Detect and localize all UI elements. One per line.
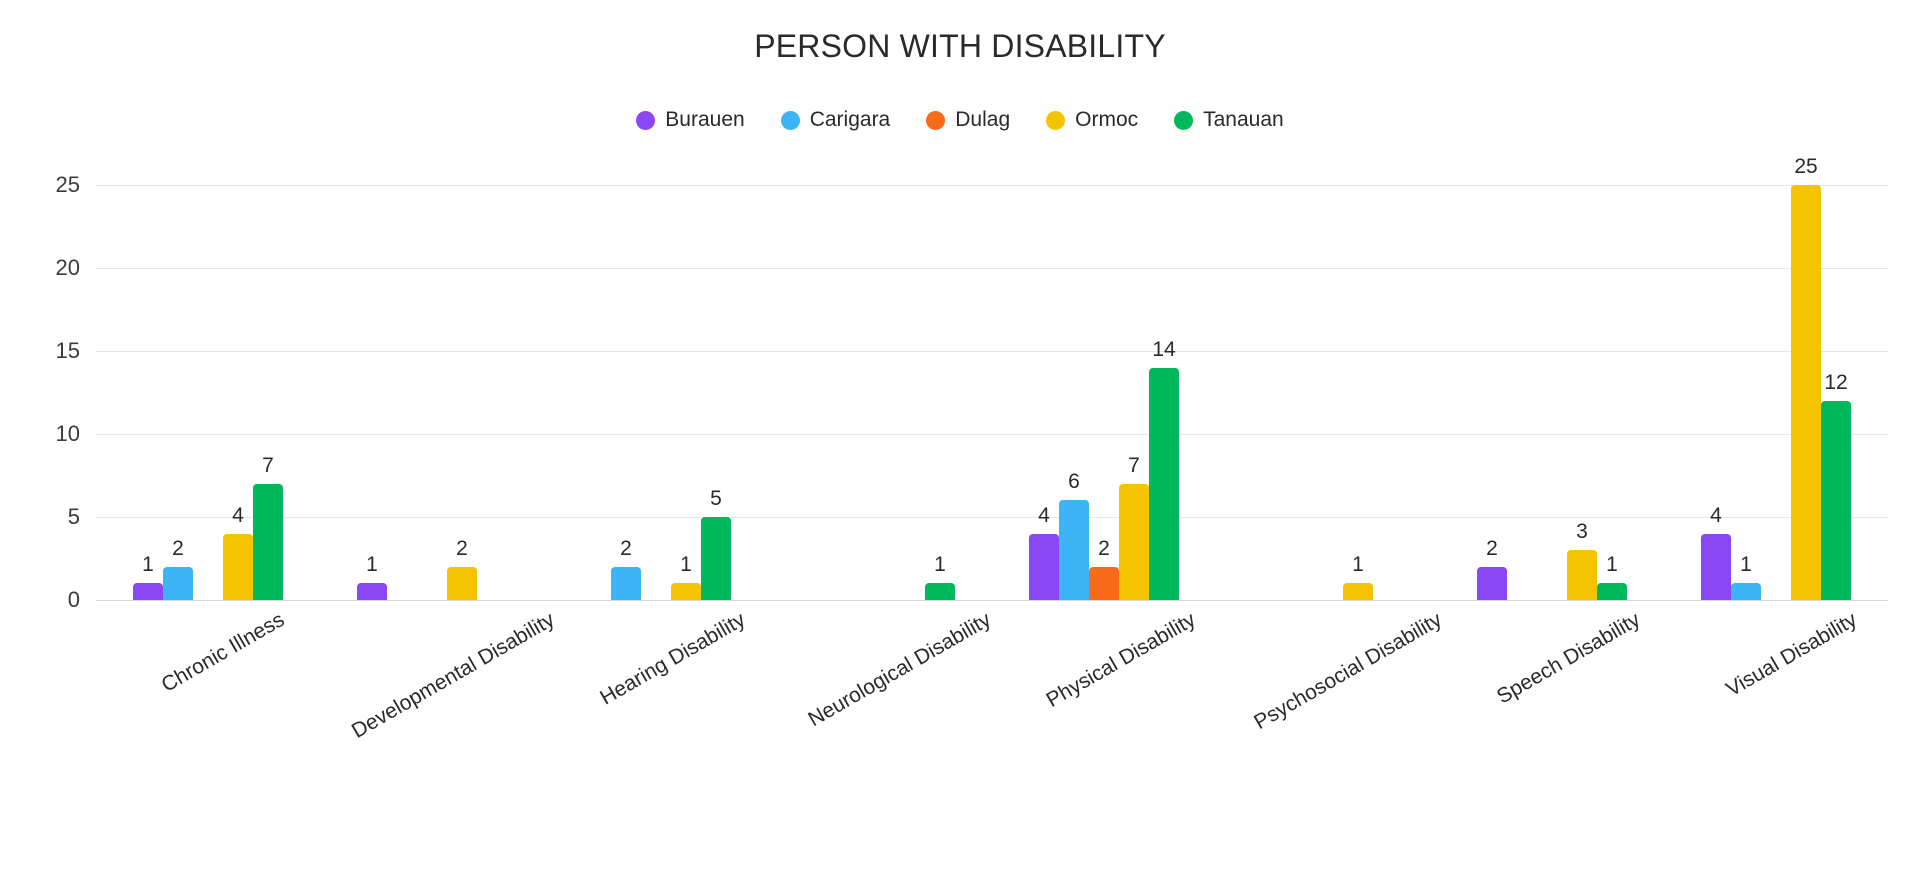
- bar-burauen[interactable]: [1029, 534, 1059, 600]
- bar-value-label: 1: [934, 553, 946, 577]
- bar-slot: 14: [1149, 160, 1179, 600]
- x-axis-tick-label: Chronic Illness: [158, 608, 289, 698]
- bar-value-label: 1: [1352, 553, 1364, 577]
- bar-slot: 2: [163, 160, 193, 600]
- bar-slot: 12: [1821, 160, 1851, 600]
- bar-slot: [865, 160, 895, 600]
- x-axis-tick-label: Psychosocial Disability: [1250, 608, 1446, 735]
- bar-group: 412512: [1664, 160, 1888, 600]
- bar-slot: 2: [447, 160, 477, 600]
- legend-item-ormoc[interactable]: Ormoc: [1046, 108, 1138, 132]
- bar-slot: [477, 160, 507, 600]
- bar-slot: [641, 160, 671, 600]
- bar-slot: 25: [1791, 160, 1821, 600]
- bar-slot: [417, 160, 447, 600]
- bar-tanauan[interactable]: [253, 484, 283, 600]
- bar-group: 1247: [96, 160, 320, 600]
- bar-value-label: 7: [1128, 454, 1140, 478]
- x-axis-tick-label: Hearing Disability: [596, 608, 750, 710]
- bar-ormoc[interactable]: [1791, 185, 1821, 600]
- bar-slot: 1: [1597, 160, 1627, 600]
- x-axis-label-cell: Speech Disability: [1440, 600, 1664, 800]
- legend-swatch-icon: [1174, 111, 1193, 130]
- bar-slot: 4: [1701, 160, 1731, 600]
- y-axis-tick-label: 5: [68, 504, 80, 530]
- x-axis-tick-label: Neurological Disability: [804, 608, 995, 732]
- bar-slot: 1: [357, 160, 387, 600]
- bar-tanauan[interactable]: [701, 517, 731, 600]
- bar-value-label: 7: [262, 454, 274, 478]
- legend-item-label: Burauen: [665, 108, 744, 132]
- bar-group: 231: [1440, 160, 1664, 600]
- bar-value-label: 25: [1794, 155, 1817, 179]
- x-axis-label-cell: Developmental Disability: [320, 600, 544, 800]
- y-axis-tick-label: 20: [56, 255, 80, 281]
- bar-group: 12: [320, 160, 544, 600]
- bar-slot: 2: [1477, 160, 1507, 600]
- x-axis-label-cell: Neurological Disability: [768, 600, 992, 800]
- bar-slot: 7: [1119, 160, 1149, 600]
- bar-carigara[interactable]: [611, 567, 641, 600]
- bar-value-label: 12: [1824, 371, 1847, 395]
- x-axis-labels: Chronic IllnessDevelopmental DisabilityH…: [96, 600, 1888, 800]
- chart-legend: BurauenCarigaraDulagOrmocTanauan: [0, 108, 1920, 132]
- x-axis-tick-label: Physical Disability: [1042, 608, 1200, 713]
- y-axis-tick-label: 10: [56, 421, 80, 447]
- bar-value-label: 4: [232, 504, 244, 528]
- bar-dulag[interactable]: [1089, 567, 1119, 600]
- legend-item-tanauan[interactable]: Tanauan: [1174, 108, 1284, 132]
- bar-slot: [895, 160, 925, 600]
- x-axis-label-cell: Psychosocial Disability: [1216, 600, 1440, 800]
- legend-item-label: Dulag: [955, 108, 1010, 132]
- bar-ormoc[interactable]: [223, 534, 253, 600]
- bar-groups: 12471221514627141231412512: [96, 160, 1888, 600]
- bar-slot: 1: [1343, 160, 1373, 600]
- bar-slot: 2: [1089, 160, 1119, 600]
- bar-value-label: 2: [1098, 537, 1110, 561]
- bar-value-label: 1: [142, 553, 154, 577]
- bar-group: 1: [1216, 160, 1440, 600]
- bar-slot: [835, 160, 865, 600]
- legend-swatch-icon: [1046, 111, 1065, 130]
- bar-slot: [1283, 160, 1313, 600]
- bar-value-label: 1: [366, 553, 378, 577]
- bar-slot: 3: [1567, 160, 1597, 600]
- x-axis-label-cell: Physical Disability: [992, 600, 1216, 800]
- bar-group: 215: [544, 160, 768, 600]
- bar-ormoc[interactable]: [447, 567, 477, 600]
- y-axis-tick-label: 15: [56, 338, 80, 364]
- bar-slot: 7: [253, 160, 283, 600]
- bar-slot: [1373, 160, 1403, 600]
- bar-carigara[interactable]: [163, 567, 193, 600]
- bar-slot: 1: [133, 160, 163, 600]
- bar-slot: [387, 160, 417, 600]
- x-axis-tick-label: Visual Disability: [1722, 608, 1861, 702]
- legend-swatch-icon: [926, 111, 945, 130]
- bar-ormoc[interactable]: [1343, 583, 1373, 600]
- bar-burauen[interactable]: [1701, 534, 1731, 600]
- bar-tanauan[interactable]: [1597, 583, 1627, 600]
- bar-slot: [1537, 160, 1567, 600]
- bar-value-label: 14: [1152, 338, 1175, 362]
- legend-item-label: Carigara: [810, 108, 891, 132]
- x-axis-label-cell: Chronic Illness: [96, 600, 320, 800]
- bar-value-label: 2: [620, 537, 632, 561]
- legend-item-burauen[interactable]: Burauen: [636, 108, 744, 132]
- bar-burauen[interactable]: [1477, 567, 1507, 600]
- bar-carigara[interactable]: [1059, 500, 1089, 600]
- bar-ormoc[interactable]: [1567, 550, 1597, 600]
- bar-ormoc[interactable]: [671, 583, 701, 600]
- bar-tanauan[interactable]: [1149, 368, 1179, 600]
- bar-burauen[interactable]: [133, 583, 163, 600]
- bar-group: 462714: [992, 160, 1216, 600]
- x-axis-tick-label: Developmental Disability: [348, 608, 559, 744]
- bar-value-label: 1: [1740, 553, 1752, 577]
- bar-slot: [581, 160, 611, 600]
- x-axis-tick-label: Speech Disability: [1493, 608, 1645, 709]
- y-axis-tick-label: 0: [68, 587, 80, 613]
- bar-slot: [1253, 160, 1283, 600]
- bar-ormoc[interactable]: [1119, 484, 1149, 600]
- page-title: PERSON WITH DISABILITY: [0, 28, 1920, 65]
- bar-tanauan[interactable]: [925, 583, 955, 600]
- bar-slot: 1: [1731, 160, 1761, 600]
- bar-slot: 5: [701, 160, 731, 600]
- bar-slot: [805, 160, 835, 600]
- bar-slot: [1313, 160, 1343, 600]
- bar-tanauan[interactable]: [1821, 401, 1851, 600]
- bar-chart: PERSON WITH DISABILITY BurauenCarigaraDu…: [0, 0, 1920, 878]
- legend-item-dulag[interactable]: Dulag: [926, 108, 1010, 132]
- x-axis-label-cell: Visual Disability: [1664, 600, 1888, 800]
- bar-burauen[interactable]: [357, 583, 387, 600]
- bar-value-label: 1: [680, 553, 692, 577]
- bar-value-label: 5: [710, 487, 722, 511]
- bar-value-label: 3: [1576, 520, 1588, 544]
- legend-item-carigara[interactable]: Carigara: [781, 108, 891, 132]
- bar-slot: 6: [1059, 160, 1089, 600]
- bar-slot: [1761, 160, 1791, 600]
- legend-item-label: Tanauan: [1203, 108, 1284, 132]
- bar-slot: 4: [223, 160, 253, 600]
- y-axis-tick-label: 25: [56, 172, 80, 198]
- bar-slot: [193, 160, 223, 600]
- bar-value-label: 4: [1710, 504, 1722, 528]
- legend-swatch-icon: [781, 111, 800, 130]
- bar-slot: 1: [925, 160, 955, 600]
- bar-carigara[interactable]: [1731, 583, 1761, 600]
- bar-slot: 1: [671, 160, 701, 600]
- bar-value-label: 1: [1606, 553, 1618, 577]
- bar-value-label: 2: [1486, 537, 1498, 561]
- legend-item-label: Ormoc: [1075, 108, 1138, 132]
- bar-value-label: 2: [456, 537, 468, 561]
- bar-slot: 4: [1029, 160, 1059, 600]
- bar-value-label: 2: [172, 537, 184, 561]
- bar-slot: 2: [611, 160, 641, 600]
- legend-swatch-icon: [636, 111, 655, 130]
- bar-slot: [1507, 160, 1537, 600]
- bar-value-label: 4: [1038, 504, 1050, 528]
- bar-value-label: 6: [1068, 470, 1080, 494]
- plot-area: 0510152025 12471221514627141231412512: [96, 160, 1888, 600]
- x-axis-label-cell: Hearing Disability: [544, 600, 768, 800]
- bar-group: 1: [768, 160, 992, 600]
